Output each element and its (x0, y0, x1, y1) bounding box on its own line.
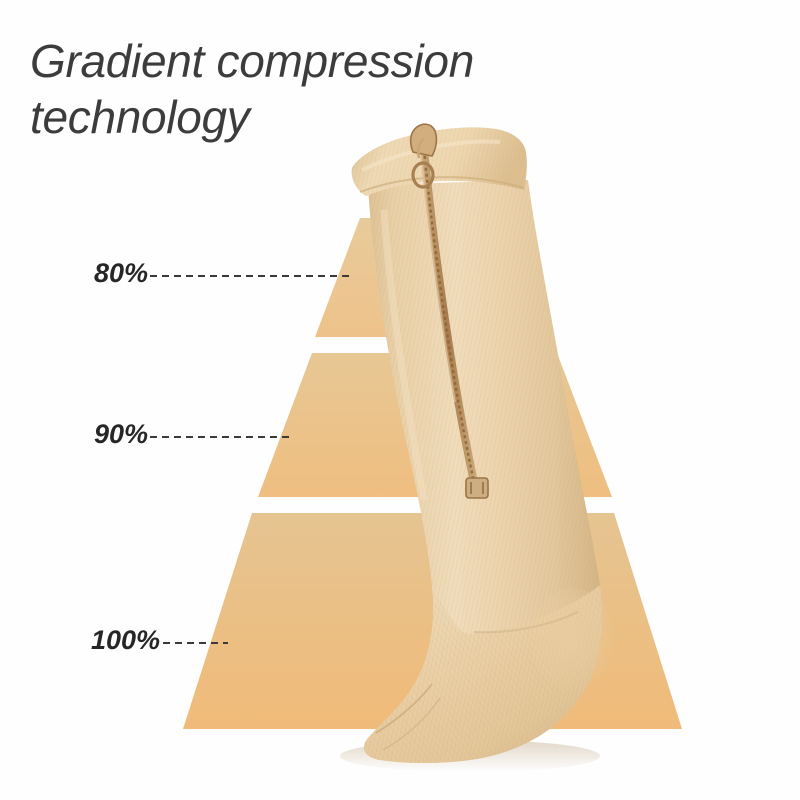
compression-sock-image (0, 0, 800, 800)
zipper-stop (466, 478, 488, 498)
sock-body (364, 180, 614, 763)
heel-shading (530, 588, 614, 692)
diagram-canvas: Gradient compression technology 80% 90% … (0, 0, 800, 800)
